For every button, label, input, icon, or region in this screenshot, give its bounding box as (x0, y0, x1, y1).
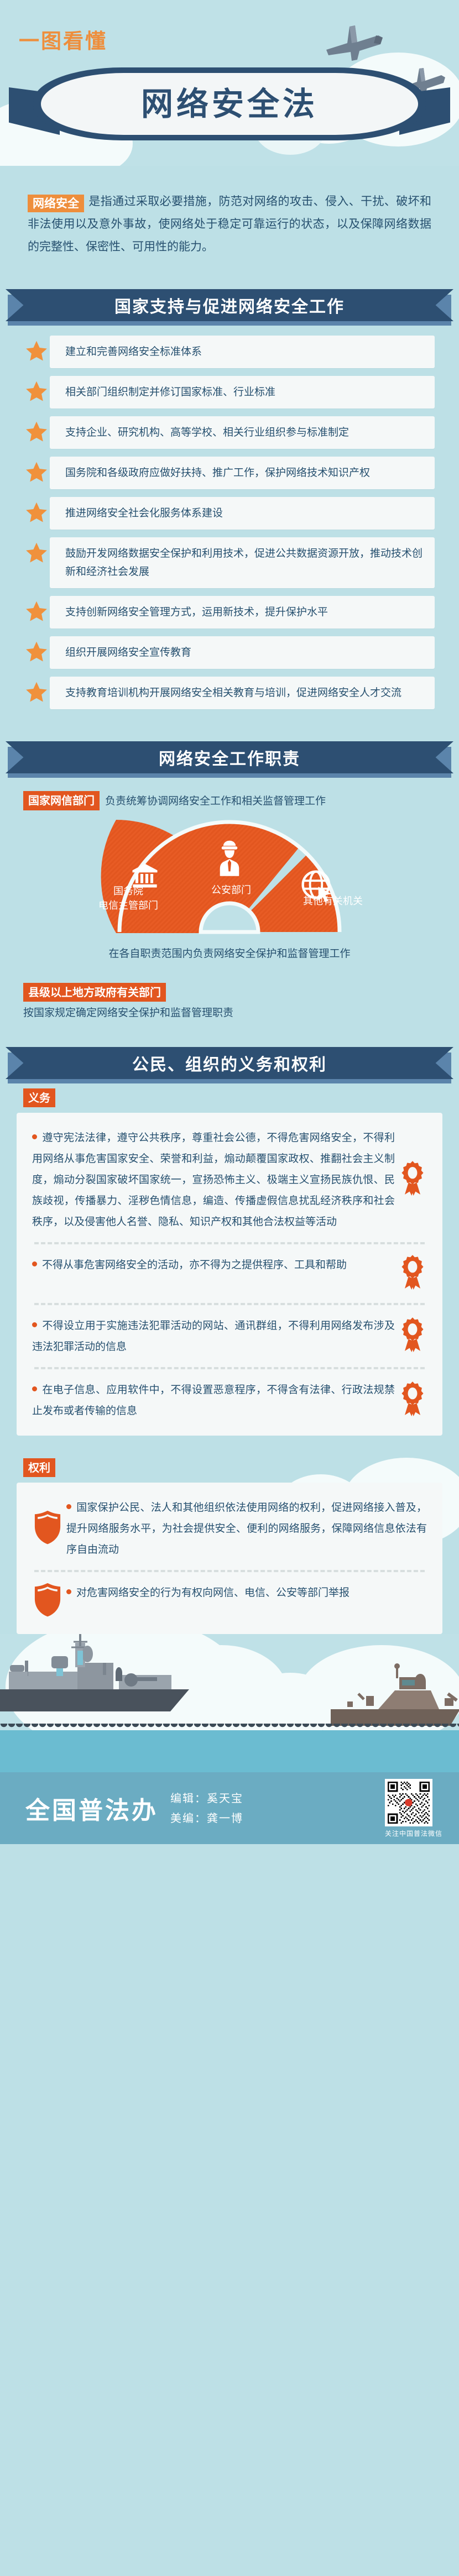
bullet-dot (32, 1322, 37, 1327)
list-item-text: 组织开展网络安全宣传教育 (50, 636, 435, 669)
list-item-text: 支持教育培训机构开展网络安全相关教育与培训，促进网络安全人才交流 (50, 677, 435, 709)
list-item-text: 鼓励开发网络数据安全保护和利用技术，促进公共数据资源开放，推动技术创新和经济社会… (50, 537, 435, 588)
rosette-medal-icon (398, 1317, 427, 1355)
national-authority-tag: 国家网信部门 (23, 791, 100, 810)
list-item: 不得设立用于实施违法犯罪活动的网站、通讯群组，不得利用网络发布涉及违法犯罪活动的… (32, 1315, 427, 1357)
obligation-text: 在电子信息、应用软件中，不得设置恶意程序，不得含有法律、行政法规禁止发布或者传输… (32, 1379, 395, 1421)
footer-credits: 编辑：奚天宝 美编：龚一博 (170, 1788, 243, 1828)
obligation-text: 不得从事危害网络安全的活动，亦不得为之提供程序、工具和帮助 (32, 1254, 395, 1275)
section-banner-duties: 网络安全工作职责 (0, 741, 459, 776)
obligations-header: 义务 (0, 1081, 459, 1105)
list-item: 推进网络安全社会化服务体系建设 (24, 497, 435, 530)
star-icon (24, 460, 49, 484)
qr-code[interactable] (385, 1779, 432, 1826)
definition-text: 是指通过采取必要措施，防范对网络的攻击、侵入、干扰、破坏和非法使用以及意外事故，… (28, 195, 431, 253)
sea (0, 1730, 459, 1772)
definition-block: 网络安全是指通过采取必要措施，防范对网络的攻击、侵入、干扰、破坏和非法使用以及意… (0, 166, 459, 275)
ribbon-inner: 网络安全法 (41, 73, 418, 135)
page-kicker: 一图看懂 (19, 24, 107, 54)
section-banner-support: 国家支持与促进网络安全工作 (0, 289, 459, 323)
sea-edge (0, 1724, 459, 1730)
local-authority-row: 县级以上地方政府有关部门 按国家规定确定网络安全保护和监督管理职责 (23, 986, 436, 1022)
infographic-page: 一图看懂 网络安全法 网络安全是指通过采取必要措施，防范对网络的攻击、侵入、 (0, 0, 459, 2576)
title-ribbon: 网络安全法 (0, 61, 459, 160)
obligations-tag: 义务 (23, 1088, 55, 1107)
list-item: 对危害网络安全的行为有权向网信、电信、公安等部门举报 (32, 1582, 427, 1620)
definition-tag: 网络安全 (28, 195, 84, 212)
rosette-medal-icon (398, 1381, 427, 1420)
right-text: 对危害网络安全的行为有权向网信、电信、公安等部门举报 (66, 1582, 427, 1603)
star-icon (24, 501, 49, 524)
header: 一图看懂 网络安全法 (0, 0, 459, 166)
national-authority-desc: 负责统筹协调网络安全工作和相关监督管理工作 (105, 793, 326, 809)
footer-bar: 全国普法办 编辑：奚天宝 美编：龚一博 (0, 1772, 459, 1844)
list-item-text: 国务院和各级政府应做好扶持、推广工作，保护网络技术知识产权 (50, 457, 435, 489)
rosette-medal-icon (398, 1254, 427, 1293)
fighter-jet-icon (321, 21, 393, 64)
list-item: 在电子信息、应用软件中，不得设置恶意程序，不得含有法律、行政法规禁止发布或者传输… (32, 1379, 427, 1421)
warship-icon (312, 1662, 459, 1734)
star-icon (24, 339, 49, 363)
bullet-dot (32, 1386, 37, 1391)
banner-label: 网络安全工作职责 (159, 745, 300, 769)
list-item: 国家保护公民、法人和其他组织依法使用网络的权利，促进网络接入普及，提升网络服务水… (32, 1497, 427, 1560)
local-authority-tag: 县级以上地方政府有关部门 (23, 983, 166, 1002)
globe-cursor-icon (300, 869, 335, 905)
star-icon (24, 420, 49, 443)
list-item: 组织开展网络安全宣传教育 (24, 636, 435, 669)
qr-caption: 关注中国普法微信 (385, 1829, 442, 1838)
obligation-text: 遵守宪法法律，遵守公共秩序，尊重社会公德，不得危害网络安全，不得利用网络从事危害… (32, 1127, 395, 1232)
bullet-dot (32, 1261, 37, 1266)
support-items-list: 建立和完善网络安全标准体系 相关部门组织制定并修订国家标准、行业标准 支持企业、… (0, 323, 459, 720)
list-item: 支持创新网络安全管理方式，运用新技术，提升保护水平 (24, 596, 435, 629)
divider (34, 1367, 425, 1369)
rights-header: 权利 (0, 1436, 459, 1475)
footer-designer: 美编：龚一博 (170, 1808, 243, 1828)
rosette-medal-icon (398, 1160, 427, 1199)
warship-icon (0, 1634, 304, 1734)
list-item: 相关部门组织制定并修订国家标准、行业标准 (24, 376, 435, 409)
ships-illustration (0, 1634, 459, 1772)
footer-brand: 全国普法办 (25, 1790, 158, 1826)
bullet-dot (32, 1134, 37, 1139)
qr-block: 关注中国普法微信 (385, 1779, 442, 1838)
divider (34, 1303, 425, 1305)
divider (34, 1242, 425, 1244)
star-icon (24, 541, 49, 564)
list-item-text: 支持企业、研究机构、高等学校、相关行业组织参与标准制定 (50, 416, 435, 449)
police-officer-icon (214, 839, 245, 880)
national-authority-row: 国家网信部门 负责统筹协调网络安全工作和相关监督管理工作 (23, 791, 436, 810)
list-item: 支持教育培训机构开展网络安全相关教育与培训，促进网络安全人才交流 (24, 677, 435, 709)
star-icon (24, 680, 49, 704)
list-item-text: 相关部门组织制定并修订国家标准、行业标准 (50, 376, 435, 409)
banner-main: 国家支持与促进网络安全工作 (6, 289, 453, 321)
list-item: 遵守宪法法律，遵守公共秩序，尊重社会公德，不得危害网络安全，不得利用网络从事危害… (32, 1127, 427, 1232)
departments-fan-diagram: 国务院 电信主管部门 公安部门 其他有关机关 (64, 818, 395, 939)
bullet-dot (66, 1504, 71, 1509)
star-icon (24, 640, 49, 663)
bullet-dot (66, 1589, 71, 1594)
star-icon (24, 600, 49, 623)
star-icon (24, 380, 49, 403)
list-item: 不得从事危害网络安全的活动，亦不得为之提供程序、工具和帮助 (32, 1254, 427, 1293)
list-item-text: 推进网络安全社会化服务体系建设 (50, 497, 435, 530)
duties-block: 国家网信部门 负责统筹协调网络安全工作和相关监督管理工作 (0, 776, 459, 1022)
section-banner-rights: 公民、组织的义务和权利 (0, 1047, 459, 1081)
list-item: 支持企业、研究机构、高等学校、相关行业组织参与标准制定 (24, 416, 435, 449)
list-item: 建立和完善网络安全标准体系 (24, 336, 435, 368)
banner-label: 公民、组织的义务和权利 (132, 1051, 327, 1075)
divider (34, 1570, 425, 1572)
shield-icon (32, 1510, 63, 1547)
local-authority-desc: 按国家规定确定网络安全保护和监督管理职责 (23, 1004, 436, 1022)
rights-tag: 权利 (23, 1458, 55, 1477)
page-title: 网络安全法 (141, 88, 318, 120)
list-item-text: 支持创新网络安全管理方式，运用新技术，提升保护水平 (50, 596, 435, 629)
rights-card: 国家保护公民、法人和其他组织依法使用网络的权利，促进网络接入普及，提升网络服务水… (17, 1483, 442, 1634)
shield-icon (32, 1582, 63, 1620)
obligations-card: 遵守宪法法律，遵守公共秩序，尊重社会公德，不得危害网络安全，不得利用网络从事危害… (17, 1113, 442, 1436)
list-item: 鼓励开发网络数据安全保护和利用技术，促进公共数据资源开放，推动技术创新和经济社会… (24, 537, 435, 588)
footer-editor: 编辑：奚天宝 (170, 1788, 243, 1808)
fan-note: 在各自职责范围内负责网络安全保护和监督管理工作 (23, 945, 436, 960)
bank-icon (129, 861, 161, 893)
obligation-text: 不得设立用于实施违法犯罪活动的网站、通讯群组，不得利用网络发布涉及违法犯罪活动的… (32, 1315, 395, 1357)
banner-main: 公民、组织的义务和权利 (6, 1047, 453, 1079)
right-text: 国家保护公民、法人和其他组织依法使用网络的权利，促进网络接入普及，提升网络服务水… (66, 1497, 427, 1560)
list-item-text: 建立和完善网络安全标准体系 (50, 336, 435, 368)
list-item: 国务院和各级政府应做好扶持、推广工作，保护网络技术知识产权 (24, 457, 435, 489)
banner-main: 网络安全工作职责 (6, 741, 453, 773)
banner-label: 国家支持与促进网络安全工作 (114, 293, 345, 317)
